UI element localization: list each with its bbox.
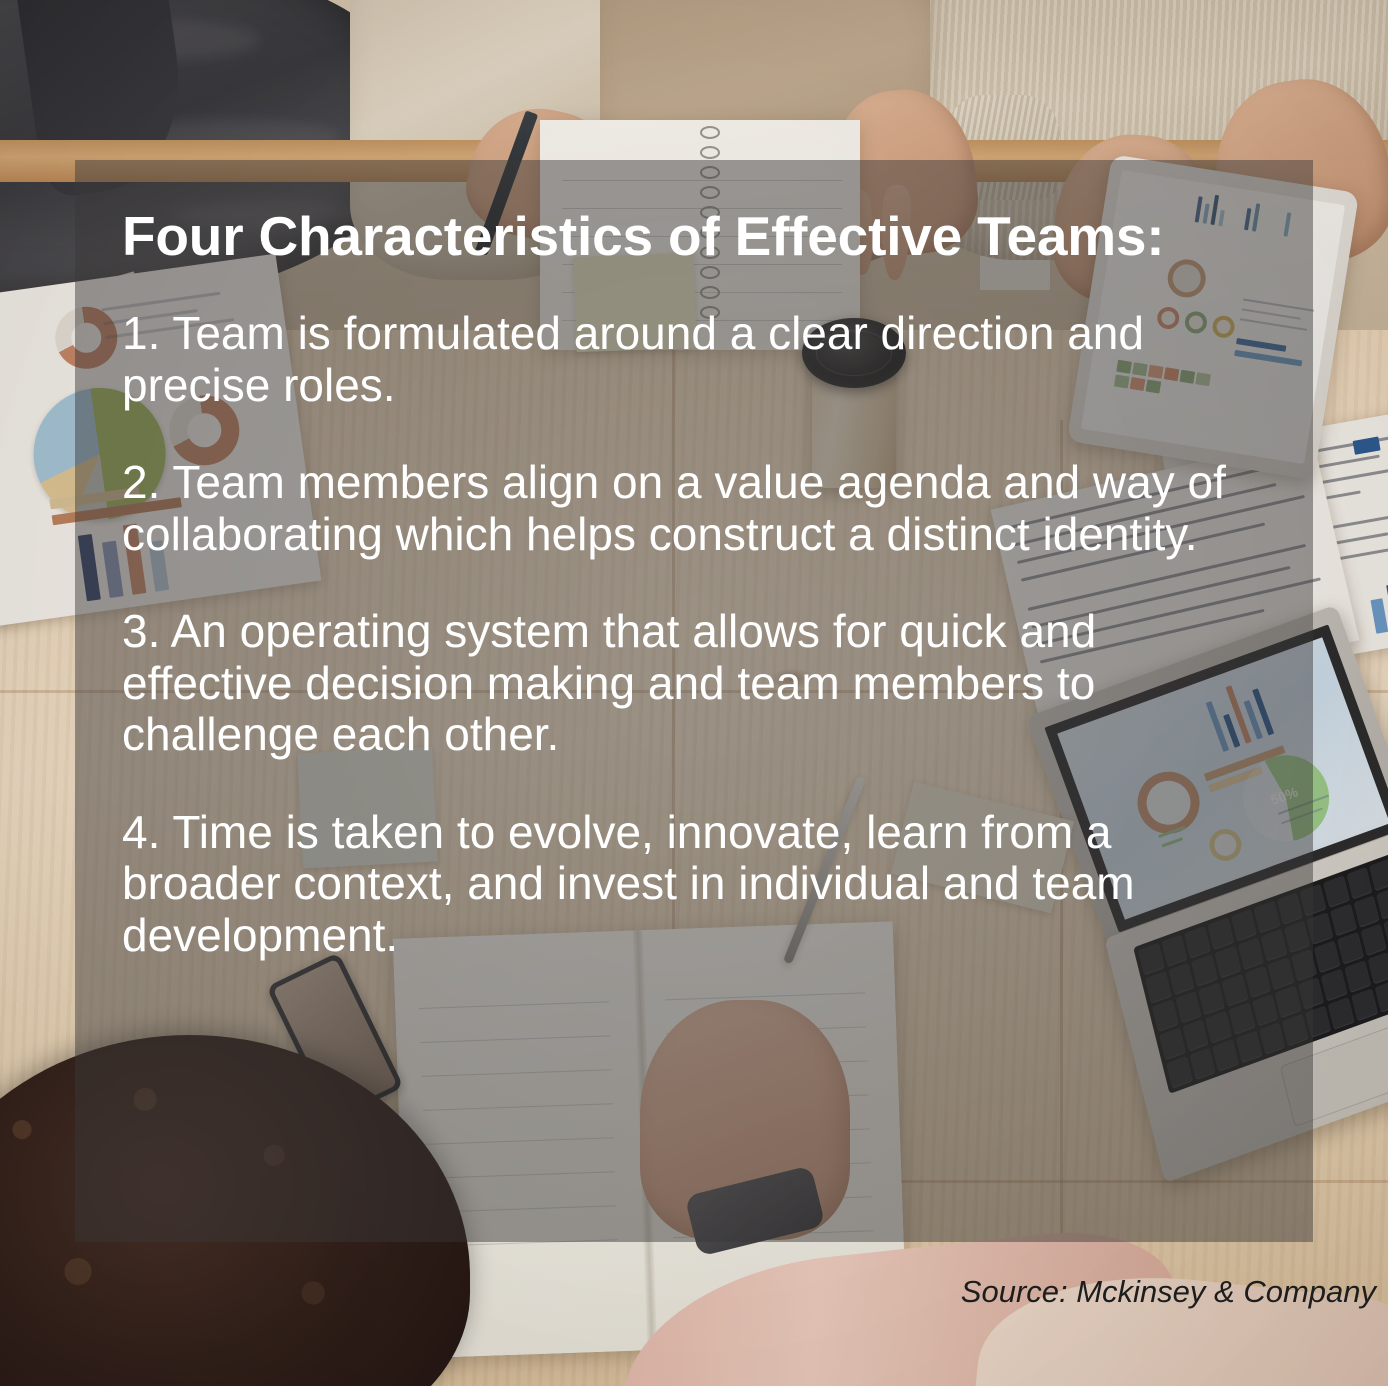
list-item: 1. Team is formulated around a clear dir…	[122, 308, 1237, 411]
page-title: Four Characteristics of Effective Teams:	[122, 208, 1269, 264]
characteristics-list: 1. Team is formulated around a clear dir…	[122, 308, 1269, 961]
list-item: 4. Time is taken to evolve, innovate, le…	[122, 807, 1237, 962]
list-item: 3. An operating system that allows for q…	[122, 606, 1237, 761]
source-attribution: Source: Mckinsey & Company	[961, 1274, 1376, 1310]
slide-content: Four Characteristics of Effective Teams:…	[75, 160, 1313, 1242]
list-item: 2. Team members align on a value agenda …	[122, 457, 1237, 560]
slide-canvas: 50%	[0, 0, 1388, 1386]
